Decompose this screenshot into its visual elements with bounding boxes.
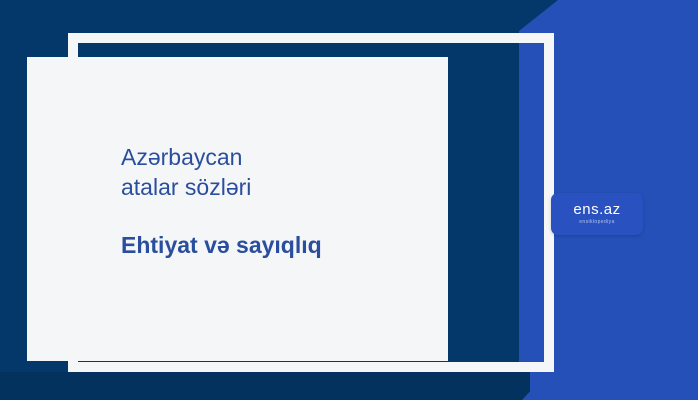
ens-az-logo-badge[interactable]: ens.az ensiklopediya xyxy=(551,193,643,235)
logo-wordmark: ens.az xyxy=(573,202,620,217)
page-subtitle: Ehtiyat və sayıqlıq xyxy=(121,230,441,260)
slide-text-block: Azərbaycan atalar sözləri Ehtiyat və say… xyxy=(121,142,441,260)
content-card: Azərbaycan atalar sözləri Ehtiyat və say… xyxy=(27,57,448,361)
logo-tagline: ensiklopediya xyxy=(579,218,615,226)
title-subtitle-spacer xyxy=(121,202,441,230)
page-title-line-2: atalar sözləri xyxy=(121,172,441,202)
page-title-line-1: Azərbaycan xyxy=(121,142,441,172)
slide-canvas: Azərbaycan atalar sözləri Ehtiyat və say… xyxy=(0,0,698,400)
background-bottom-strip xyxy=(0,372,530,400)
